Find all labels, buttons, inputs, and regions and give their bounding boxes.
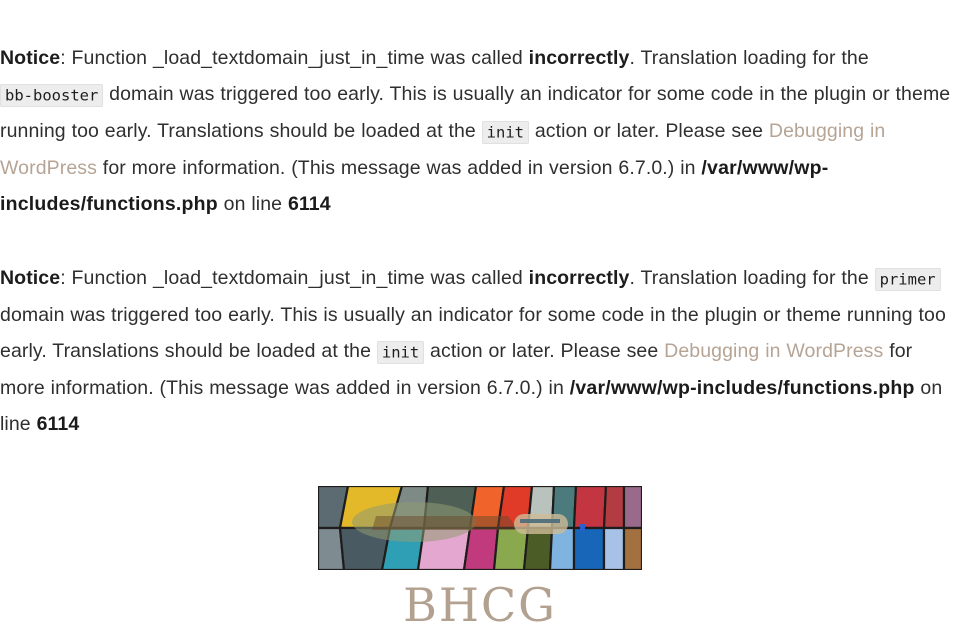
notice-emphasis: incorrectly — [529, 267, 630, 289]
notice-after-emphasis: . Translation loading for the — [629, 47, 868, 69]
text-domain-code: primer — [875, 268, 941, 291]
page-content: Notice: Function _load_textdomain_just_i… — [0, 0, 960, 632]
php-notice-2: Notice: Function _load_textdomain_just_i… — [0, 222, 960, 442]
notice-after-hook: action or later. Please see — [424, 340, 664, 362]
notice-after-link: for more information. (This message was … — [97, 157, 701, 179]
notice-after-hook: action or later. Please see — [529, 120, 769, 142]
file-path: /var/www/wp-includes/functions.php — [570, 377, 915, 399]
notice-emphasis: incorrectly — [529, 47, 630, 69]
php-notice-1: Notice: Function _load_textdomain_just_i… — [0, 0, 960, 222]
notice-intro-text: : Function _load_textdomain_just_in_time… — [60, 47, 528, 69]
notice-label: Notice — [0, 267, 60, 289]
on-line-text: on line — [218, 193, 288, 215]
stained-glass-mosaic-banner-image[interactable] — [318, 486, 642, 570]
line-number: 6114 — [288, 193, 331, 215]
notice-label: Notice — [0, 47, 60, 69]
brand-name: BHCG — [403, 578, 557, 632]
site-logo[interactable]: BHCG — [0, 486, 960, 632]
debugging-in-wordpress-link[interactable]: Debugging in WordPress — [664, 340, 883, 362]
notice-intro-text: : Function _load_textdomain_just_in_time… — [60, 267, 528, 289]
init-hook-code: init — [377, 341, 424, 364]
notice-after-emphasis: . Translation loading for the — [629, 267, 874, 289]
text-domain-code: bb-booster — [0, 84, 103, 107]
init-hook-code: init — [482, 121, 529, 144]
line-number: 6114 — [37, 413, 80, 435]
